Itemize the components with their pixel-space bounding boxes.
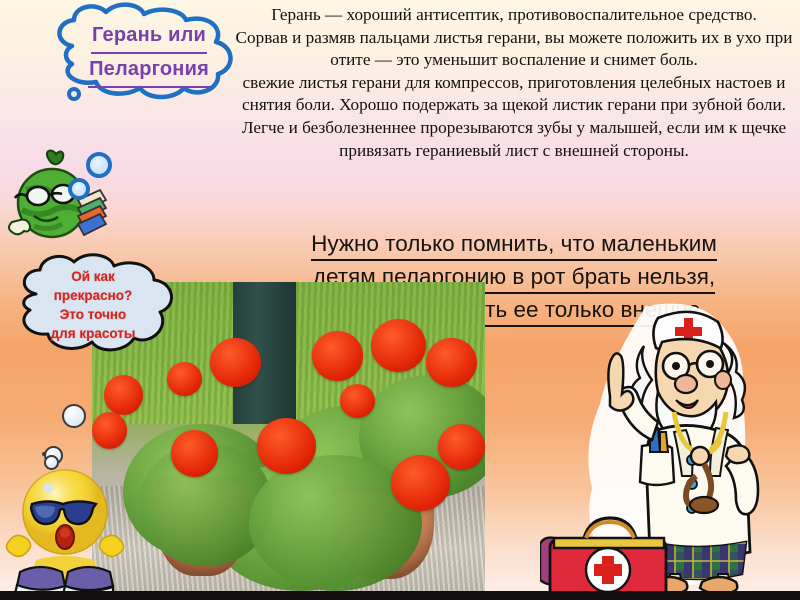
slide-canvas: Герань — хороший антисептик, противовосп… xyxy=(0,0,800,600)
bubble-icon xyxy=(86,152,112,178)
photo-flower xyxy=(171,430,218,476)
photo-flower xyxy=(257,418,316,474)
body-paragraph-1: Герань — хороший антисептик, противовосп… xyxy=(234,4,794,27)
smiley-sunglasses-icon xyxy=(2,460,128,598)
bubble-icon xyxy=(62,404,86,428)
bottom-border-strip xyxy=(0,591,800,600)
title-line-2: Пеларгония xyxy=(88,54,210,88)
thought-line-2: прекрасно? xyxy=(20,286,166,305)
warning-line-1: Нужно только помнить, что маленьким xyxy=(311,228,717,261)
title-text: Герань или Пеларгония xyxy=(44,20,254,88)
doctor-character xyxy=(540,300,792,592)
title-line-1: Герань или xyxy=(91,20,207,54)
photo-flower xyxy=(340,384,375,418)
body-text-block: Герань — хороший антисептик, противовосп… xyxy=(234,4,794,162)
thought-line-1: Ой как xyxy=(20,267,166,286)
thought-bubble-text: Ой как прекрасно? Это точно для красоты xyxy=(20,267,166,343)
photo-flower xyxy=(312,331,363,380)
photo-flower xyxy=(426,338,477,387)
body-paragraph-3: свежие листья герани для компрессов, при… xyxy=(234,72,794,162)
bubble-icon xyxy=(68,178,90,200)
photo-flower xyxy=(371,319,426,372)
photo-flower xyxy=(92,412,127,449)
body-paragraph-2: Сорвав и размяв пальцами листья герани, … xyxy=(234,27,794,72)
cartoon-doctor-icon xyxy=(540,300,792,592)
thought-line-3: Это точно xyxy=(20,305,166,324)
title-speech-bubble: Герань или Пеларгония xyxy=(44,2,254,102)
bubble-icon xyxy=(42,452,46,456)
photo-flower xyxy=(210,338,261,387)
thought-line-4: для красоты xyxy=(20,324,166,343)
photo-flower xyxy=(104,375,143,415)
photo-flower xyxy=(391,455,450,511)
smiley-character xyxy=(2,460,128,598)
thought-bubble: Ой как прекрасно? Это точно для красоты xyxy=(6,252,180,374)
